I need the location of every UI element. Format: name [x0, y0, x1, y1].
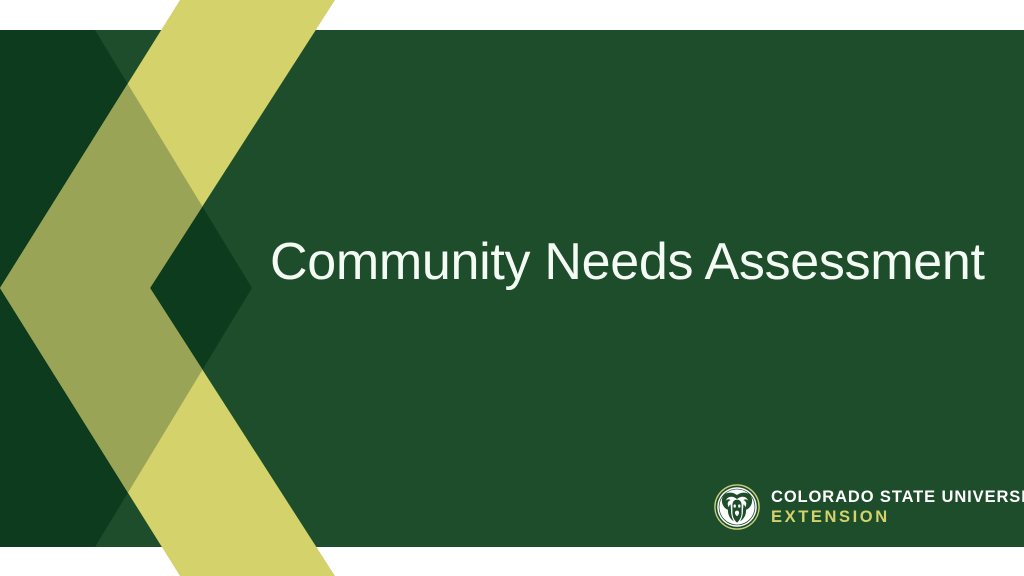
wordmark-extension-line: EXTENSION [771, 509, 1024, 526]
title-block: Community Needs Assessment [270, 222, 1000, 302]
csu-extension-wordmark: COLORADO STATE UNIVERSITY EXTENSION [771, 489, 1024, 526]
csu-extension-logo-lockup: COLORADO STATE UNIVERSITY EXTENSION [714, 481, 994, 533]
title-slide: Community Needs Assessment [0, 0, 1024, 576]
csu-ram-logo-icon [714, 484, 760, 530]
wordmark-university-line: COLORADO STATE UNIVERSITY [771, 489, 1024, 506]
page-title: Community Needs Assessment [270, 235, 985, 290]
